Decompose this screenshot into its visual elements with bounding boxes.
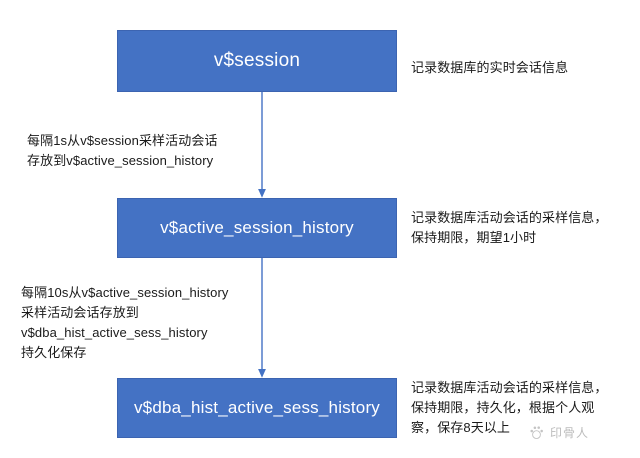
diagram-canvas: v$session 记录数据库的实时会话信息 每隔1s从v$session采样活… [0, 0, 640, 458]
node-v-active-session-history[interactable]: v$active_session_history [117, 198, 397, 258]
node-v-dba-hist-active-sess-history-label: v$dba_hist_active_sess_history [128, 398, 386, 418]
annotation-v-session: 记录数据库的实时会话信息 [411, 58, 633, 78]
edge-label-session-to-ash: 每隔1s从v$session采样活动会话 存放到v$active_session… [27, 131, 272, 171]
paw-logo-icon [528, 424, 545, 441]
node-v-active-session-history-label: v$active_session_history [154, 218, 360, 238]
node-v-dba-hist-active-sess-history[interactable]: v$dba_hist_active_sess_history [117, 378, 397, 438]
watermark-label: 印骨人 [550, 424, 589, 441]
watermark: 印骨人 [528, 424, 589, 441]
annotation-v-dba-hist-active-sess-history: 记录数据库活动会话的采样信息， 保持期限，持久化，根据个人观 察，保存8天以上 [411, 378, 633, 438]
edge-label-ash-to-dba-hist: 每隔10s从v$active_session_history 采样活动会话存放到… [21, 283, 276, 363]
node-v-session-label: v$session [208, 50, 306, 73]
annotation-v-active-session-history: 记录数据库活动会话的采样信息， 保持期限，期望1小时 [411, 208, 633, 248]
node-v-session[interactable]: v$session [117, 30, 397, 92]
